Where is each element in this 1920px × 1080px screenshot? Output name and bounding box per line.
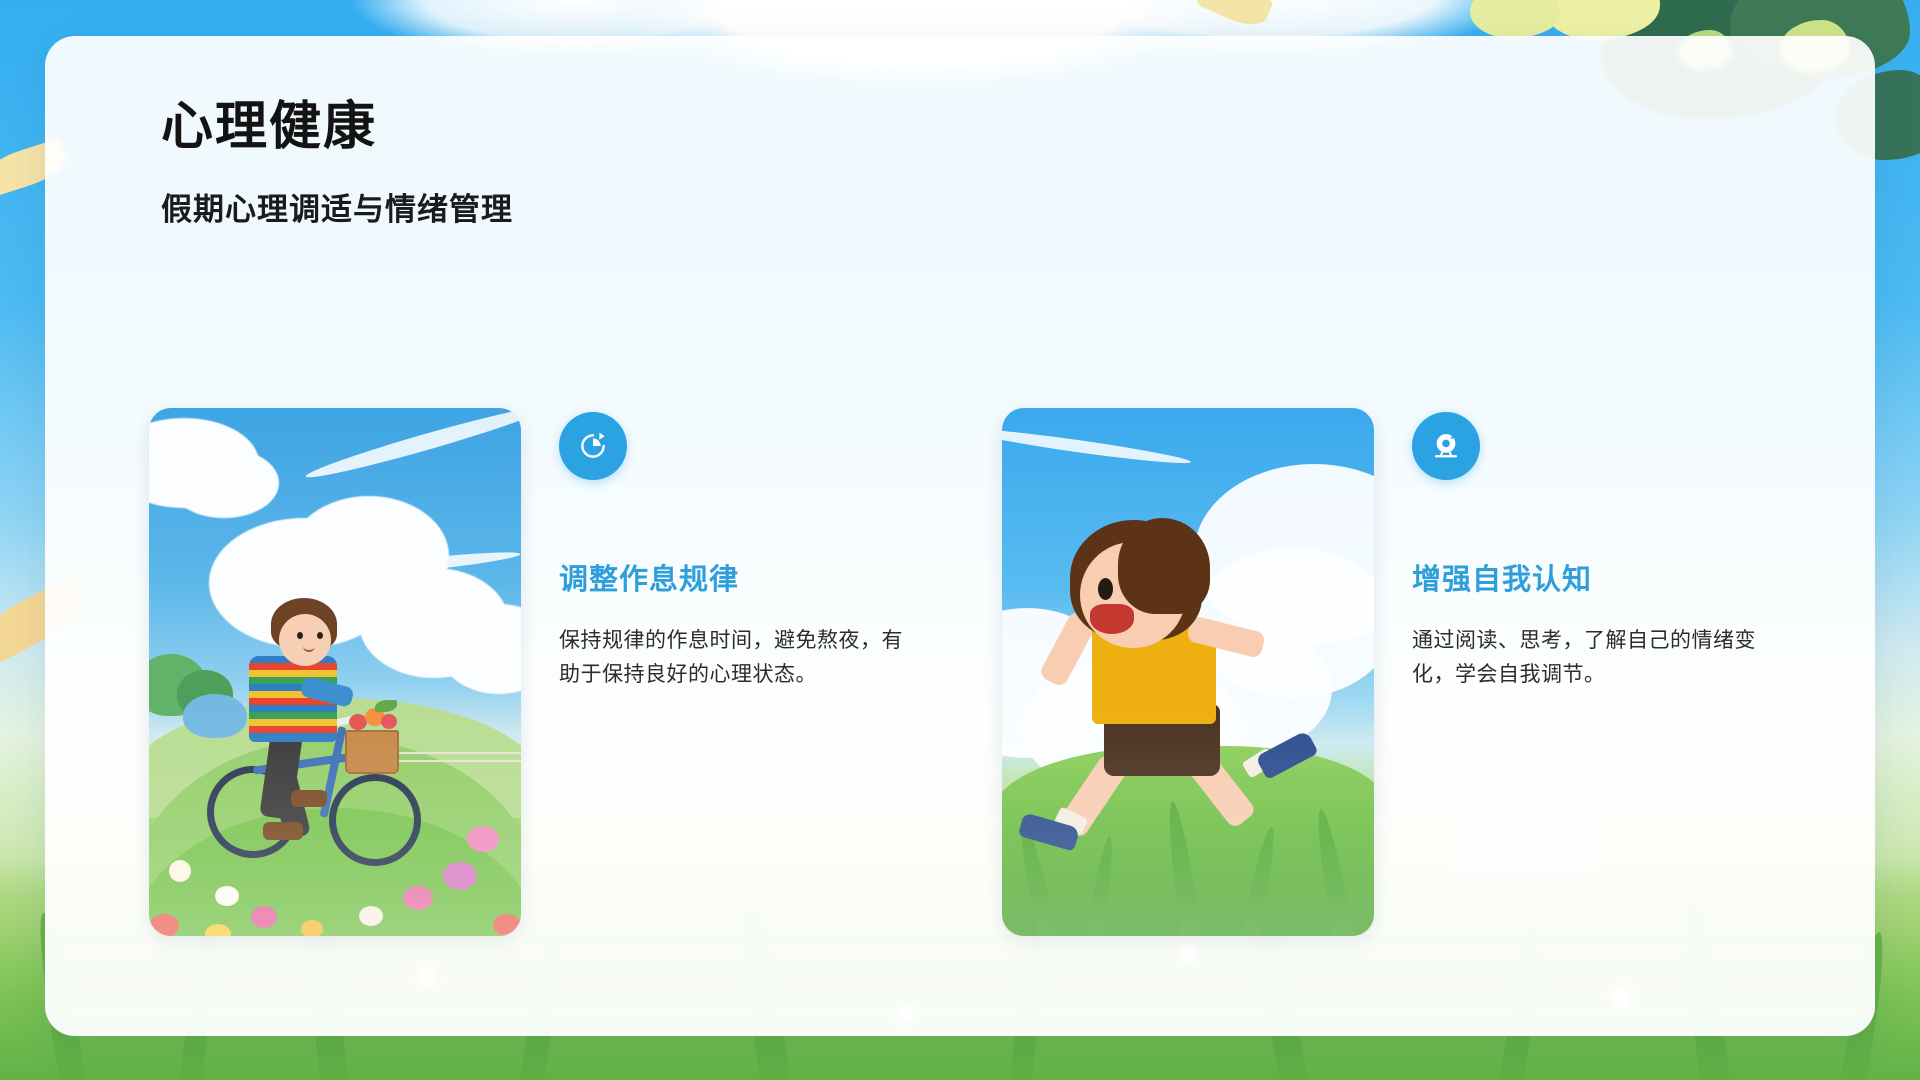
restore-clock-glyph [576,429,610,463]
content-cards: 调整作息规律 保持规律的作息时间，避免熬夜，有助于保持良好的心理状态。 [149,408,1771,936]
sweater-stripe [249,670,337,677]
boy-eye [1098,578,1113,600]
meadow-flower [251,906,277,928]
sweater-stripe [249,705,337,712]
meadow-flower [493,914,521,936]
fence-line [385,760,521,762]
card-title: 增强自我认知 [1412,556,1771,598]
boy-shoe [291,790,327,807]
card-text-column: 调整作息规律 保持规律的作息时间，避免熬夜，有助于保持良好的心理状态。 [559,408,918,936]
meadow-flower [149,914,179,936]
content-card[interactable]: 调整作息规律 保持规律的作息时间，避免熬夜，有助于保持良好的心理状态。 [149,408,918,936]
restore-clock-icon[interactable] [559,412,627,480]
slide-header: 心理健康 假期心理调适与情绪管理 [161,98,513,229]
boy-shoe [263,822,303,840]
meadow-flower [359,906,383,926]
meadow-flower [403,886,433,910]
basket-flower [381,714,397,729]
bicycle-basket [345,730,399,774]
meadow-flower [169,860,191,882]
card-image-running-boy [1002,408,1374,936]
slide-card: 心理健康 假期心理调适与情绪管理 [45,36,1875,1036]
boy-head [279,614,331,666]
boy-eye [297,632,303,639]
meadow-flower [443,862,477,890]
card-description: 保持规律的作息时间，避免熬夜，有助于保持良好的心理状态。 [559,624,918,692]
tree [183,694,247,738]
sweater-stripe [249,663,337,670]
cloud [169,448,279,518]
card-text-column: 增强自我认知 通过阅读、思考，了解自己的情绪变化，学会自我调节。 [1412,408,1771,936]
sweater-stripe [249,712,337,719]
page-subtitle: 假期心理调适与情绪管理 [161,184,513,229]
webcam-icon[interactable] [1412,412,1480,480]
webcam-glyph [1429,429,1463,463]
boy-eye [317,632,323,639]
card-title: 调整作息规律 [559,556,918,598]
page-title: 心理健康 [161,98,513,158]
card-image-bicycle [149,408,521,936]
meadow-flower [467,826,499,852]
sweater-stripe [249,719,337,726]
sweater-stripe [249,726,337,733]
bicycle-front-wheel [329,774,421,866]
boy-hair-front [1118,518,1210,614]
leaf-shape [1470,0,1560,38]
meadow-flower [215,886,239,906]
meadow-flower [301,920,323,936]
content-card[interactable]: 增强自我认知 通过阅读、思考，了解自己的情绪变化，学会自我调节。 [1002,408,1771,936]
sweater-stripe [249,733,337,740]
boy-mouth [1090,604,1134,634]
card-description: 通过阅读、思考，了解自己的情绪变化，学会自我调节。 [1412,624,1771,692]
